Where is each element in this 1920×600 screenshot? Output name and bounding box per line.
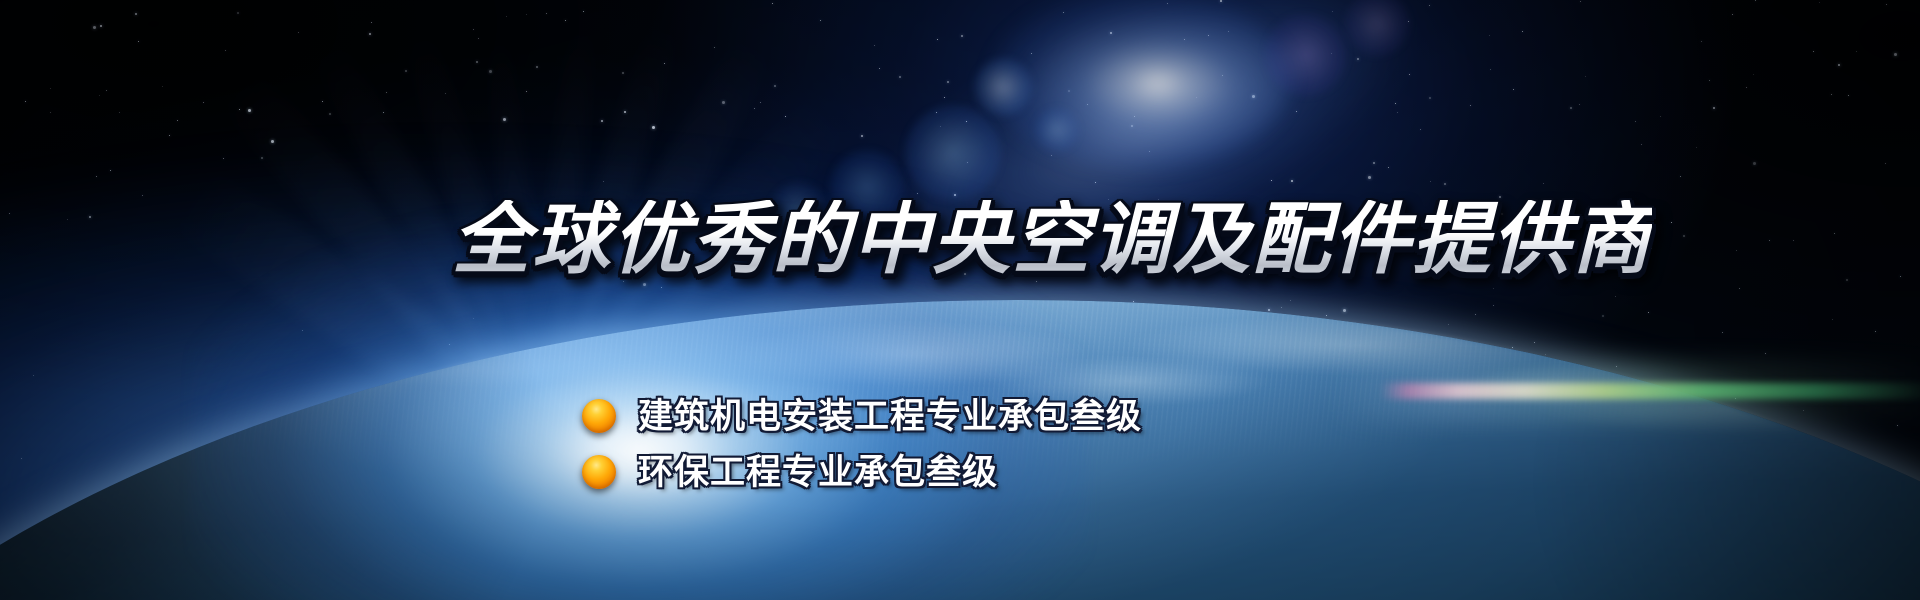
list-item: 建筑机电安装工程专业承包叁级	[582, 388, 1142, 444]
qualification-list: 建筑机电安装工程专业承包叁级 环保工程专业承包叁级	[582, 388, 1142, 500]
list-item-label: 建筑机电安装工程专业承包叁级	[638, 399, 1142, 434]
orange-bullet-icon	[582, 455, 616, 489]
list-item: 环保工程专业承包叁级	[582, 444, 1142, 500]
banner-content: 全球优秀的中央空调及配件提供商 建筑机电安装工程专业承包叁级 环保工程专业承包叁…	[0, 0, 1920, 600]
hero-banner: 全球优秀的中央空调及配件提供商 建筑机电安装工程专业承包叁级 环保工程专业承包叁…	[0, 0, 1920, 600]
orange-bullet-icon	[582, 399, 616, 433]
list-item-label: 环保工程专业承包叁级	[638, 455, 998, 490]
banner-headline: 全球优秀的中央空调及配件提供商	[452, 200, 1652, 278]
